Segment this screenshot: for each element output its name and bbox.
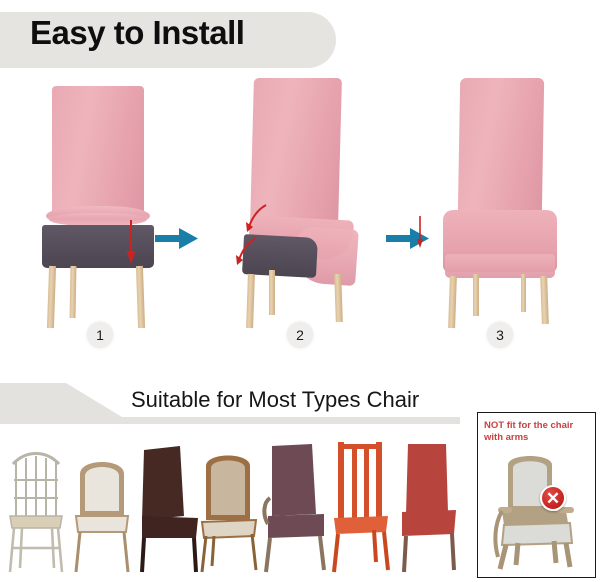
chair-step-3 — [429, 78, 579, 328]
step-badge-3: 3 — [487, 322, 513, 348]
warning-box: NOT fit for the chair with arms ✕ — [477, 412, 596, 578]
step-2: 2 — [200, 78, 400, 350]
arrow-down-red-3 — [414, 214, 426, 250]
chair-orange-slat — [330, 438, 392, 574]
chair-leg-front-left — [47, 266, 56, 328]
chair-wood-patterned-back — [198, 442, 260, 574]
x-symbol: ✕ — [546, 490, 560, 507]
step-badge-2: 2 — [287, 322, 313, 348]
chair-leg-back-left — [269, 270, 275, 315]
chair-leg-back-right — [521, 274, 526, 312]
arrow-next-teal-1 — [155, 226, 199, 252]
not-allowed-x-icon: ✕ — [540, 485, 566, 511]
chair-leg-front-right — [540, 276, 549, 324]
chair-leg-back-left — [473, 274, 479, 316]
step-badge-1: 1 — [87, 322, 113, 348]
armchair-illustration — [492, 449, 584, 571]
infographic-page: Easy to Install — [0, 0, 600, 582]
chair-step-1 — [30, 78, 170, 328]
chair-leg-front-left — [246, 274, 255, 328]
chair-leg-front-right — [136, 266, 145, 328]
chair-red-patterned — [396, 440, 460, 574]
cover-seat-skirt — [445, 254, 555, 278]
chair-leg-front-left — [448, 276, 457, 328]
step-3: 3 — [400, 78, 600, 350]
chair-leg-back-left — [70, 266, 77, 318]
arrow-curve-red-lower — [234, 236, 262, 266]
chair-beige-nailhead — [72, 444, 132, 574]
chair-dark-brown-leather — [134, 442, 202, 574]
compat-banner-bar — [0, 417, 460, 424]
cover-back — [52, 86, 144, 214]
warning-text: NOT fit for the chair with arms — [484, 420, 592, 444]
installation-steps: 1 — [0, 78, 600, 350]
page-title: Easy to Install — [30, 14, 244, 52]
arrow-curve-red-upper — [244, 203, 272, 233]
cover-back — [458, 78, 544, 218]
chair-ornate-silver — [6, 442, 68, 574]
arrow-down-red-1 — [124, 218, 138, 266]
compat-title: Suitable for Most Types Chair — [131, 387, 419, 413]
chair-purple-banquet — [262, 440, 328, 574]
compatible-chairs-gallery — [0, 428, 470, 582]
step-1: 1 — [0, 78, 200, 350]
